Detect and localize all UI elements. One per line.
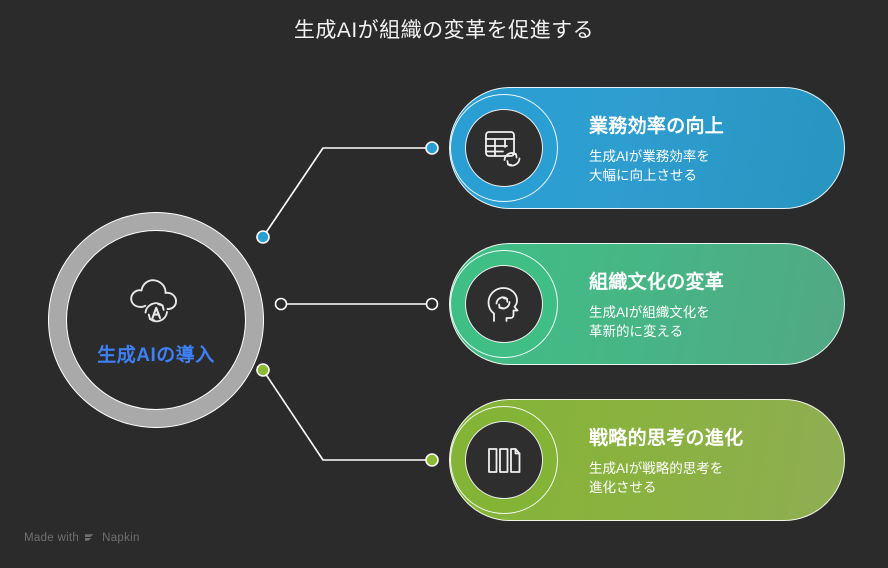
watermark: Made with Napkin bbox=[24, 531, 140, 544]
hub-label: 生成AIの導入 bbox=[97, 340, 215, 367]
connector-node-hub-2[interactable] bbox=[276, 299, 287, 310]
card-1-icon-core bbox=[465, 109, 543, 187]
cloud-ai-refresh-icon bbox=[121, 274, 191, 334]
card-1-icon-badge[interactable] bbox=[450, 94, 558, 202]
watermark-brand: Napkin bbox=[102, 532, 140, 544]
card-3-icon-core bbox=[465, 421, 543, 499]
card-3-text: 戦略的思考の進化 生成AIが戦略的思考を 進化させる bbox=[589, 423, 743, 497]
connector-node-card-2[interactable] bbox=[427, 299, 438, 310]
card-1-description: 生成AIが業務効率を 大幅に向上させる bbox=[589, 147, 724, 185]
connector-node-card-3[interactable] bbox=[426, 454, 438, 466]
card-2-description: 生成AIが組織文化を 革新的に変える bbox=[589, 303, 724, 341]
card-2-icon-core bbox=[465, 265, 543, 343]
center-hub[interactable]: 生成AIの導入 bbox=[48, 212, 264, 428]
card-1-title: 業務効率の向上 bbox=[589, 111, 724, 138]
card-2-icon-badge[interactable] bbox=[450, 250, 558, 358]
page-title: 生成AIが組織の変革を促進する bbox=[0, 14, 888, 44]
diagram-canvas: 生成AIが組織の変革を促進する bbox=[0, 0, 888, 568]
card-3-title: 戦略的思考の進化 bbox=[589, 423, 743, 450]
napkin-chevrons-icon bbox=[84, 531, 97, 544]
card-1-text: 業務効率の向上 生成AIが業務効率を 大幅に向上させる bbox=[589, 111, 724, 185]
card-2-text: 組織文化の変革 生成AIが組織文化を 革新的に変える bbox=[589, 267, 724, 341]
connector-node-card-1[interactable] bbox=[426, 142, 438, 154]
watermark-prefix: Made with bbox=[24, 532, 79, 544]
hub-content: 生成AIの導入 bbox=[48, 212, 264, 428]
pillars-building-icon bbox=[481, 437, 527, 483]
connector-line-1 bbox=[263, 148, 432, 237]
card-3-icon-badge[interactable] bbox=[450, 406, 558, 514]
card-3-description: 生成AIが戦略的思考を 進化させる bbox=[589, 459, 743, 497]
spreadsheet-refresh-icon bbox=[481, 125, 527, 171]
card-2-title: 組織文化の変革 bbox=[589, 267, 724, 294]
connector-line-3 bbox=[263, 370, 432, 460]
head-cycle-icon bbox=[481, 281, 527, 327]
